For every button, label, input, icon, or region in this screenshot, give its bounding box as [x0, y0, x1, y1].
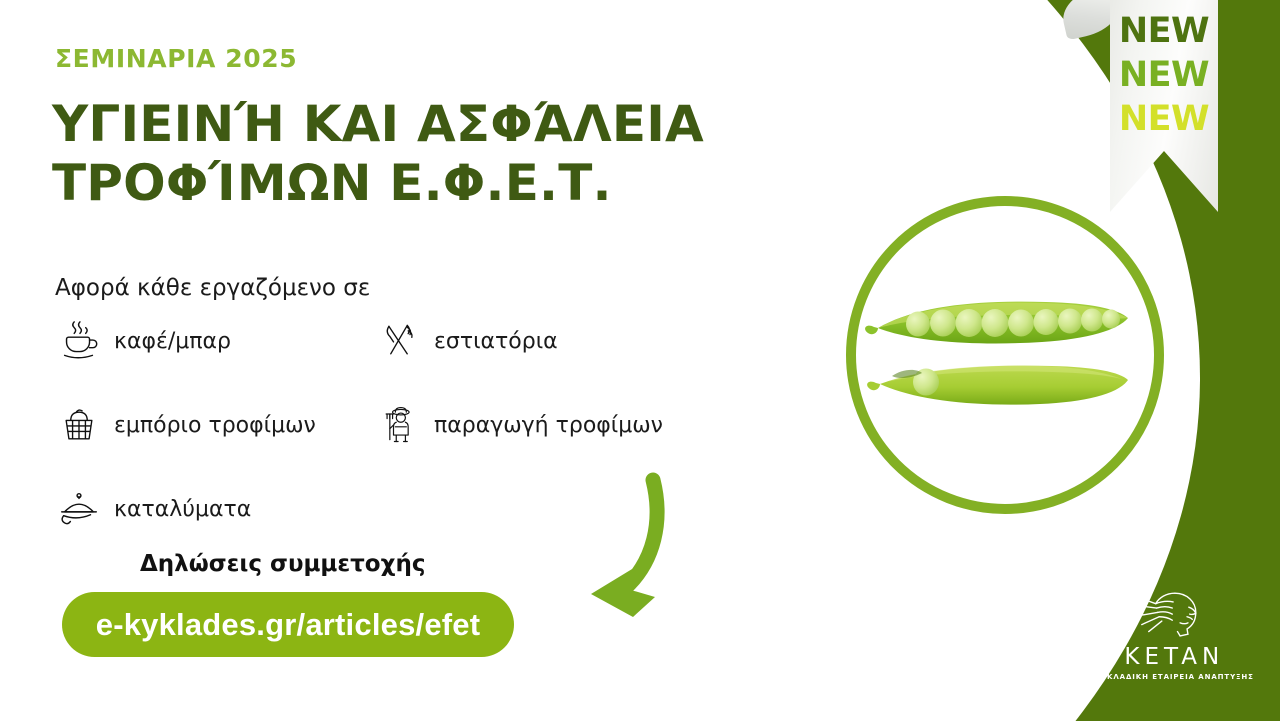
chamber-of-cyclades-logo: Επιμελητήριο Κυκλάδων ΕΤΟΣ ΙΔΡΥΣΕΩΣ 1836 — [888, 588, 1055, 658]
ribbon-body: NEW NEW NEW — [1110, 0, 1218, 212]
ribbon-new-line-3: NEW — [1110, 98, 1218, 142]
audience-item-restaurants: εστιατόρια — [368, 310, 698, 372]
cta-title: Δηλώσεις συμμετοχής — [140, 551, 425, 577]
cloche-tray-icon — [48, 478, 110, 540]
audience-label: εμπόριο τροφίμων — [114, 413, 316, 438]
audience-label: εστιατόρια — [434, 329, 558, 354]
ketan-name: KETAN — [1124, 644, 1224, 670]
audience-item-accommodation: καταλύματα — [48, 478, 368, 540]
shopping-basket-icon — [48, 394, 110, 456]
ribbon-new-line-2: NEW — [1110, 54, 1218, 98]
classical-head-icon — [1126, 588, 1222, 642]
pea-pod-image — [856, 206, 1154, 504]
curved-arrow-icon — [505, 462, 695, 647]
ketan-tagline: ΚΥΚΛΑΔΙΚΗ ΕΤΑΙΡΕΙΑ ΑΝΑΠΤΥΞΗΣ — [1095, 673, 1254, 681]
running-figure-icon — [888, 588, 928, 658]
audience-row: εμπόριο τροφίμων — [48, 394, 748, 456]
registration-url-button[interactable]: e-kyklades.gr/articles/efet — [62, 592, 514, 657]
pea-pods-illustration — [856, 206, 1154, 504]
audience-row: καφέ/μπαρ εστιατόρια — [48, 310, 748, 372]
audience-label: παραγωγή τροφίμων — [434, 413, 663, 438]
new-ribbon: NEW NEW NEW — [1110, 0, 1218, 212]
promo-banner: NEW NEW NEW — [0, 0, 1280, 721]
audience-item-cafe-bar: καφέ/μπαρ — [48, 310, 368, 372]
farmer-icon — [368, 394, 430, 456]
registration-url-label: e-kyklades.gr/articles/efet — [96, 607, 481, 643]
coffee-cup-icon — [48, 310, 110, 372]
fork-knife-icon — [368, 310, 430, 372]
audience-label: καταλύματα — [114, 497, 251, 522]
audience-label: καφέ/μπαρ — [114, 329, 231, 354]
kicker-seminars-2025: ΣΕΜΙΝΑΡΙΑ 2025 — [55, 44, 297, 73]
logo-group: Επιμελητήριο Κυκλάδων ΕΤΟΣ ΙΔΡΥΣΕΩΣ 1836… — [888, 588, 1254, 681]
audience-item-food-retail: εμπόριο τροφίμων — [48, 394, 368, 456]
chamber-founded: ΕΤΟΣ ΙΔΡΥΣΕΩΣ 1836 — [935, 646, 1055, 656]
page-title: ΥΓΙΕΙΝΉ ΚΑΙ ΑΣΦΆΛΕΙΑ ΤΡΟΦΊΜΩΝ Ε.Φ.Ε.Τ. — [52, 95, 704, 213]
ketan-logo: KETAN ΚΥΚΛΑΔΙΚΗ ΕΤΑΙΡΕΙΑ ΑΝΑΠΤΥΞΗΣ — [1095, 588, 1254, 681]
ribbon-new-line-1: NEW — [1110, 10, 1218, 54]
chamber-name: Επιμελητήριο Κυκλάδων — [935, 592, 1055, 633]
pea-pod-photo-circle — [846, 196, 1164, 514]
audience-item-food-production: παραγωγή τροφίμων — [368, 394, 698, 456]
audience-intro-text: Αφορά κάθε εργαζόμενο σε — [55, 275, 370, 301]
